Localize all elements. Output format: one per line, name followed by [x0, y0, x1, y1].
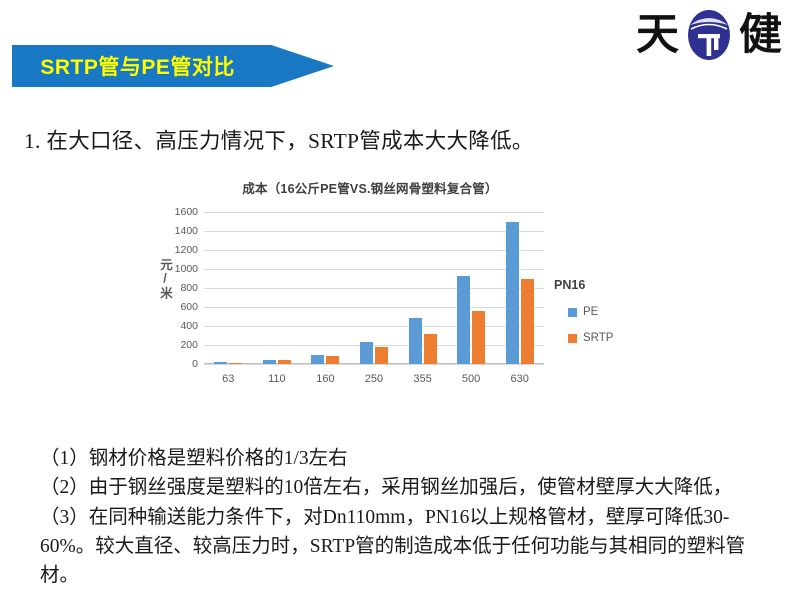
slide-title-banner: SRTP管与PE管对比 [12, 45, 334, 87]
bar-srtp [278, 360, 291, 364]
legend-title: PN16 [554, 278, 650, 292]
chart-y-axis-label: 元/米 [156, 258, 175, 300]
bar-group: 500 [449, 212, 493, 364]
legend-entries: PESRTP [554, 306, 650, 344]
y-axis-tick: 600 [180, 301, 198, 313]
x-axis-tick: 110 [255, 373, 299, 385]
y-axis-tick: 1000 [175, 263, 198, 275]
legend-swatch-icon [568, 334, 577, 343]
chart-legend: PN16 PESRTP [554, 278, 650, 358]
bar-srtp [424, 334, 437, 364]
legend-label: PE [583, 306, 598, 318]
logo-char-right: 健 [739, 14, 782, 57]
x-axis-tick: 355 [400, 373, 444, 385]
bar-pe [311, 355, 324, 365]
page-title: SRTP管与PE管对比 [12, 45, 263, 87]
legend-item-srtp[interactable]: SRTP [568, 332, 650, 344]
bar-group: 250 [352, 212, 396, 364]
note-item: （3）在同种输送能力条件下，对Dn110mm，PN16以上规格管材，壁厚可降低3… [40, 503, 780, 590]
cost-comparison-bar-chart: 成本（16公斤PE管VS.钢丝网骨塑料复合管） 元/米 160014001200… [150, 178, 650, 418]
y-axis-tick: 200 [180, 339, 198, 351]
note-item: （1）钢材价格是塑料价格的1/3左右 [40, 444, 780, 473]
bar-group: 355 [400, 212, 444, 364]
gridline [204, 364, 544, 365]
company-logo: 天 健 [604, 6, 782, 64]
bar-pe [409, 318, 422, 364]
y-axis-tick: 400 [180, 320, 198, 332]
legend-label: SRTP [583, 332, 613, 344]
chart-bar-groups: 63110160250355500630 [204, 212, 544, 364]
notes-block: （1）钢材价格是塑料价格的1/3左右（2）由于钢丝强度是塑料的10倍左右，采用钢… [40, 444, 780, 590]
bar-group: 630 [498, 212, 542, 364]
tianjian-circular-emblem-icon [681, 7, 737, 63]
bar-pe [457, 276, 470, 364]
chart-plot-area: 16001400120010008006004002000 6311016025… [204, 212, 544, 364]
bar-group: 110 [255, 212, 299, 364]
x-axis-tick: 630 [498, 373, 542, 385]
legend-swatch-icon [568, 308, 577, 317]
lead-statement: 1. 在大口径、高压力情况下，SRTP管成本大大降低。 [24, 124, 724, 155]
y-axis-tick: 1600 [175, 206, 198, 218]
bar-pe [360, 342, 373, 364]
bar-pe [506, 222, 519, 365]
chart-title: 成本（16公斤PE管VS.钢丝网骨塑料复合管） [150, 178, 590, 197]
x-axis-tick: 160 [303, 373, 347, 385]
bar-group: 63 [206, 212, 250, 364]
y-axis-tick: 1400 [175, 225, 198, 237]
bar-srtp [229, 363, 242, 364]
y-axis-tick: 0 [192, 358, 198, 370]
bar-srtp [375, 347, 388, 364]
x-axis-tick: 63 [206, 373, 250, 385]
x-axis-tick: 250 [352, 373, 396, 385]
x-axis-tick: 500 [449, 373, 493, 385]
bar-group: 160 [303, 212, 347, 364]
bar-pe [214, 362, 227, 364]
legend-item-pe[interactable]: PE [568, 306, 650, 318]
y-axis-tick: 1200 [175, 244, 198, 256]
bar-pe [263, 360, 276, 364]
bar-srtp [521, 279, 534, 365]
logo-char-left: 天 [636, 14, 679, 57]
y-axis-tick: 800 [180, 282, 198, 294]
bar-srtp [326, 356, 339, 364]
bar-srtp [472, 311, 485, 364]
note-item: （2）由于钢丝强度是塑料的10倍左右，采用钢丝加强后，使管材壁厚大大降低， [40, 473, 780, 502]
